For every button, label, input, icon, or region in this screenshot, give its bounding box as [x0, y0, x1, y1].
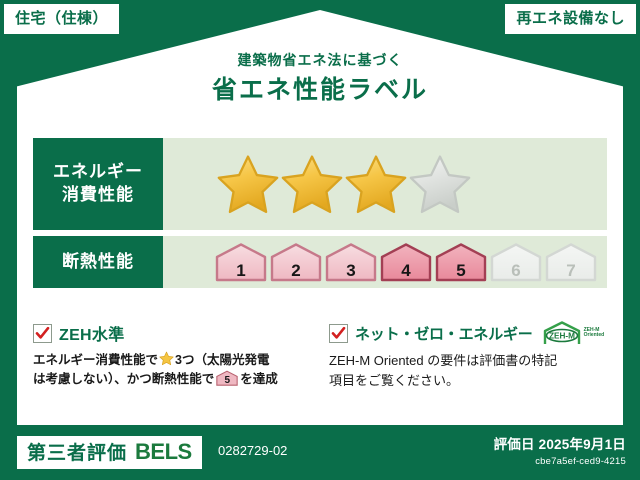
insulation-level-chip: 4: [380, 242, 432, 282]
row-insulation-label: 断熱性能: [33, 236, 163, 288]
star-rating: [217, 153, 471, 215]
row-insulation-performance: 断熱性能 1234567: [33, 236, 607, 288]
zehm-desc-line1: ZEH-M Oriented の要件は評価書の特記: [329, 353, 557, 368]
row-insulation-label-line1: 断熱性能: [62, 251, 134, 274]
info-columns: ZEH水準 エネルギー消費性能で 3つ（太陽光発電 は考慮しない）、かつ断熱性能…: [33, 322, 611, 391]
zehm-desc-line2: 項目をご覧ください。: [329, 373, 459, 388]
bels-badge: 第三者評価 BELS: [17, 436, 202, 469]
insulation-level-chip: 5: [435, 242, 487, 282]
insulation-level-scale: 1234567: [215, 242, 597, 282]
zeh-description: エネルギー消費性能で 3つ（太陽光発電 は考慮しない）、かつ断熱性能で 5 を達…: [33, 351, 315, 390]
zeh-heading-row: ZEH水準: [33, 322, 315, 344]
title-block: 建築物省エネ法に基づく 省エネ性能ラベル: [0, 52, 640, 105]
row-energy-label-line1: エネルギー: [53, 161, 143, 184]
zeh-checkbox[interactable]: [33, 324, 52, 343]
zeh-heading: ZEH水準: [59, 321, 125, 345]
inline-star-icon: [159, 351, 174, 366]
performance-rows: エネルギー 消費性能 断熱性能 1234567: [33, 138, 607, 294]
inline-level-chip: 5: [216, 370, 238, 386]
zeh-desc-part1: エネルギー消費性能で: [33, 353, 158, 367]
inline-level-chip-value: 5: [216, 376, 238, 386]
star-filled-icon: [217, 153, 279, 215]
row-energy-label: エネルギー 消費性能: [33, 138, 163, 230]
info-column-zeh: ZEH水準 エネルギー消費性能で 3つ（太陽光発電 は考慮しない）、かつ断熱性能…: [33, 322, 315, 391]
evaluation-hash: cbe7a5ef-ced9-4215: [494, 456, 626, 467]
insulation-level-chip: 6: [490, 242, 542, 282]
insulation-level-chip: 1: [215, 242, 267, 282]
footer: 第三者評価 BELS 0282729-02 評価日 2025年9月1日 cbe7…: [0, 428, 640, 480]
title-subtitle: 建築物省エネ法に基づく: [0, 52, 640, 69]
info-column-zehm: ネット・ゼロ・エネルギー ZEH-M ZEH-M Oriented ZEH-M …: [329, 322, 611, 391]
bels-logo-text: BELS: [135, 441, 192, 463]
building-type-tag: 住宅（住棟）: [4, 4, 119, 34]
insulation-level-chip: 3: [325, 242, 377, 282]
bels-number: 0282729-02: [218, 444, 287, 457]
zeh-desc-part3: を達成: [240, 372, 278, 386]
row-energy-value: [163, 138, 607, 230]
energy-label-root: 住宅（住棟） 再エネ設備なし 建築物省エネ法に基づく 省エネ性能ラベル エネルギ…: [0, 0, 640, 480]
check-icon: [35, 326, 50, 341]
row-energy-performance: エネルギー 消費性能: [33, 138, 607, 230]
zehm-heading-row: ネット・ゼロ・エネルギー ZEH-M ZEH-M Oriented: [329, 322, 611, 344]
renewable-equipment-tag: 再エネ設備なし: [505, 4, 636, 34]
evaluation-date: 評価日 2025年9月1日: [494, 437, 626, 453]
zehm-description: ZEH-M Oriented の要件は評価書の特記 項目をご覧ください。: [329, 351, 611, 391]
star-empty-icon: [409, 153, 471, 215]
insulation-level-chip: 2: [270, 242, 322, 282]
svg-text:ZEH-M: ZEH-M: [549, 331, 575, 340]
check-icon: [331, 326, 346, 341]
zehm-logo: ZEH-M ZEH-M Oriented: [542, 320, 605, 346]
zehm-house-icon: ZEH-M: [542, 320, 582, 346]
third-party-evaluation-label: 第三者評価: [27, 444, 127, 463]
footer-right: 評価日 2025年9月1日 cbe7a5ef-ced9-4215: [494, 437, 626, 468]
zehm-heading: ネット・ゼロ・エネルギー: [355, 323, 533, 344]
page-title: 省エネ性能ラベル: [0, 75, 640, 105]
star-filled-icon: [281, 153, 343, 215]
zehm-logo-sub2: Oriented: [584, 333, 605, 338]
row-insulation-value: 1234567: [163, 236, 607, 288]
zeh-desc-part2: は考慮しない）、かつ断熱性能で: [33, 372, 214, 386]
row-energy-label-line2: 消費性能: [62, 184, 134, 207]
zeh-desc-stars: 3つ（太陽光発電: [175, 353, 269, 367]
insulation-level-chip: 7: [545, 242, 597, 282]
star-filled-icon: [345, 153, 407, 215]
zehm-checkbox[interactable]: [329, 324, 348, 343]
